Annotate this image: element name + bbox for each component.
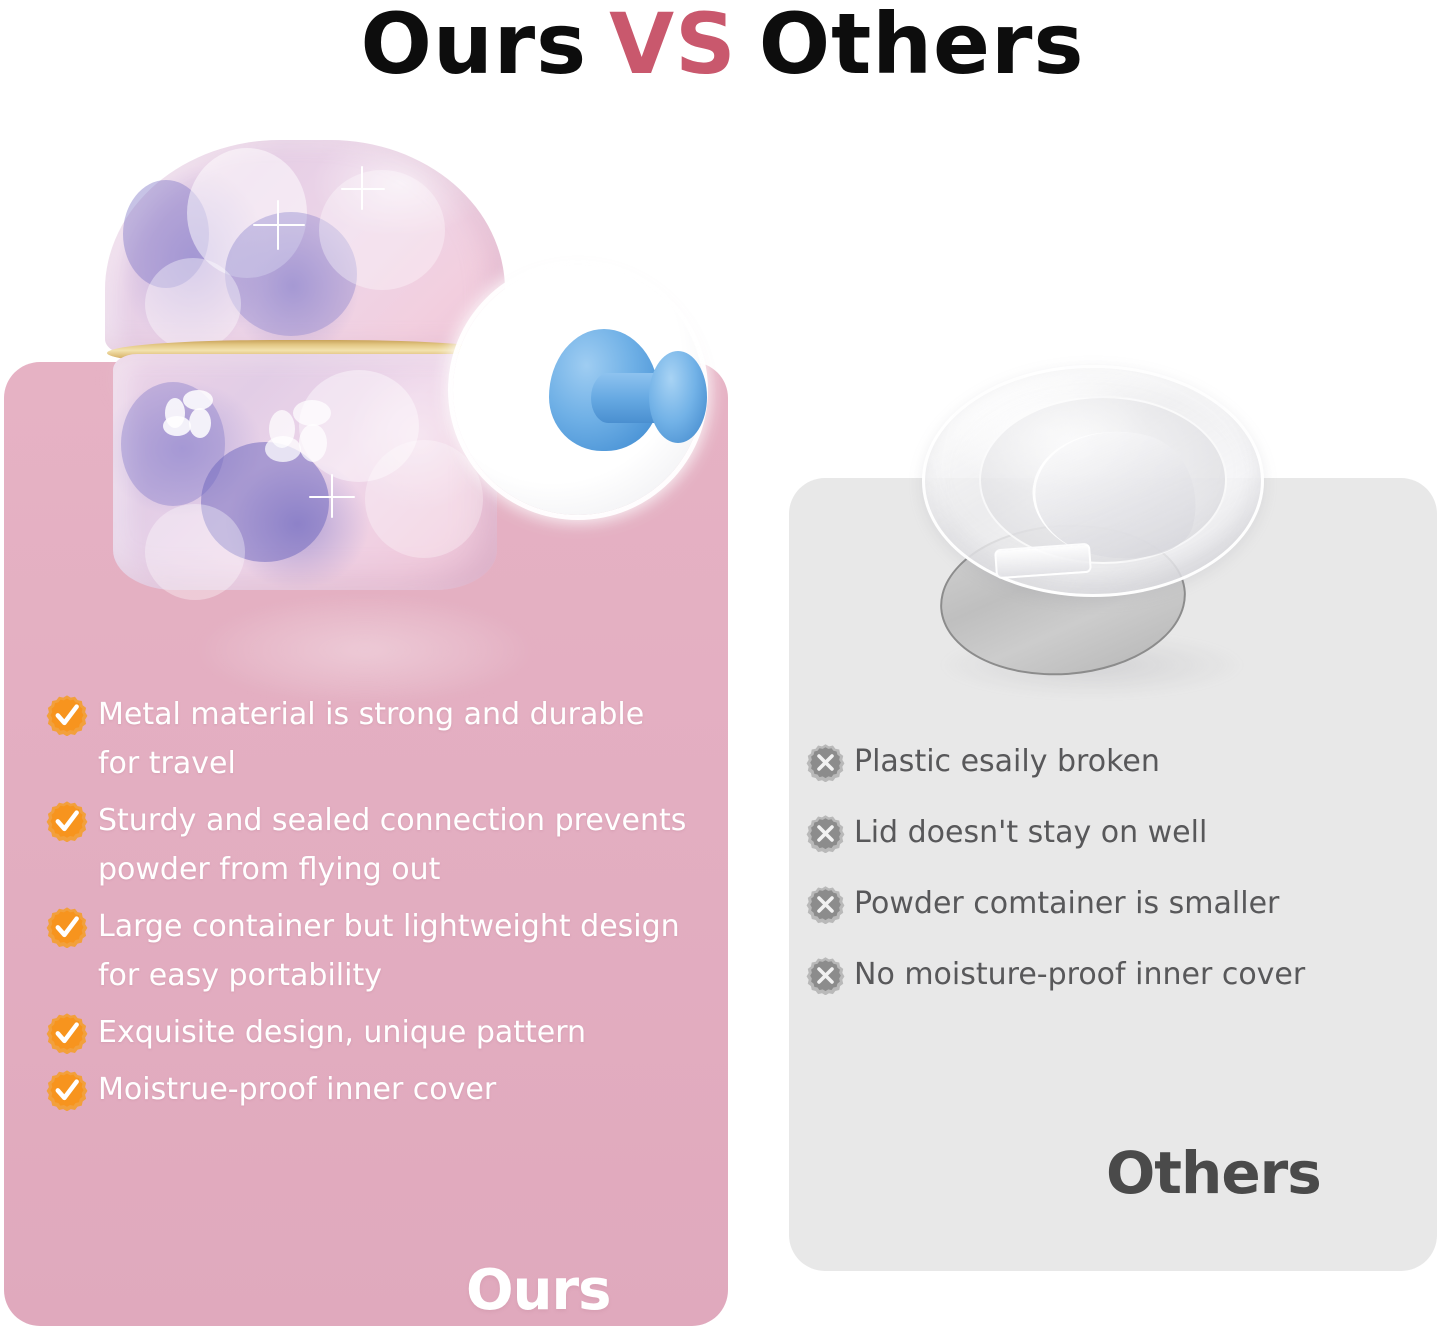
check-badge-icon — [46, 1012, 88, 1054]
ours-feature-item: Sturdy and sealed connection prevents po… — [46, 796, 706, 894]
comparison-infographic: OursVSOthers — [0, 0, 1445, 1335]
cross-badge-icon — [806, 743, 845, 782]
others-feature-text: Powder comtainer is smaller — [845, 882, 1279, 926]
others-feature-item: Powder comtainer is smaller — [806, 882, 1416, 926]
title-ours: Ours — [361, 0, 588, 93]
ours-feature-item: Exquisite design, unique pattern — [46, 1008, 706, 1057]
cross-badge-icon — [806, 814, 845, 853]
case-lid-tab — [994, 543, 1092, 580]
check-badge-icon — [46, 694, 88, 736]
check-badge-icon — [46, 800, 88, 842]
jar-body — [113, 354, 497, 590]
powder-jar — [105, 140, 505, 590]
page-title: OursVSOthers — [0, 0, 1445, 92]
ours-feature-list: Metal material is strong and durable for… — [46, 690, 706, 1122]
others-feature-text: Plastic esaily broken — [845, 740, 1160, 784]
others-feature-text: Lid doesn't stay on well — [845, 811, 1207, 855]
ours-feature-item: Metal material is strong and durable for… — [46, 690, 706, 788]
ours-feature-text: Metal material is strong and durable for… — [88, 690, 688, 788]
jar-lid — [105, 140, 505, 355]
cross-badge-icon — [806, 885, 845, 924]
ours-brand-label: Ours — [466, 1258, 610, 1323]
others-feature-item: Lid doesn't stay on well — [806, 811, 1416, 855]
ours-feature-text: Moistrue-proof inner cover — [88, 1065, 688, 1114]
case-clear-lid — [922, 365, 1264, 597]
ours-product-image — [95, 140, 705, 620]
puff-handle-knob — [649, 351, 707, 443]
others-feature-item: No moisture-proof inner cover — [806, 953, 1416, 997]
others-product-image — [912, 365, 1272, 685]
cross-badge-icon — [806, 956, 845, 995]
powder-puff — [453, 265, 703, 515]
title-others: Others — [759, 0, 1085, 93]
others-brand-label: Others — [1106, 1139, 1321, 1207]
ours-feature-text: Large container but lightweight design f… — [88, 902, 688, 1000]
others-feature-text: No moisture-proof inner cover — [845, 953, 1305, 997]
ours-feature-text: Exquisite design, unique pattern — [88, 1008, 688, 1057]
check-badge-icon — [46, 906, 88, 948]
others-feature-item: Plastic esaily broken — [806, 740, 1416, 784]
ours-feature-text: Sturdy and sealed connection prevents po… — [88, 796, 688, 894]
ours-feature-item: Moistrue-proof inner cover — [46, 1065, 706, 1114]
others-feature-list: Plastic esaily broken Lid doesn't stay o… — [806, 740, 1416, 1024]
ours-feature-item: Large container but lightweight design f… — [46, 902, 706, 1000]
title-vs: VS — [609, 0, 737, 93]
check-badge-icon — [46, 1069, 88, 1111]
